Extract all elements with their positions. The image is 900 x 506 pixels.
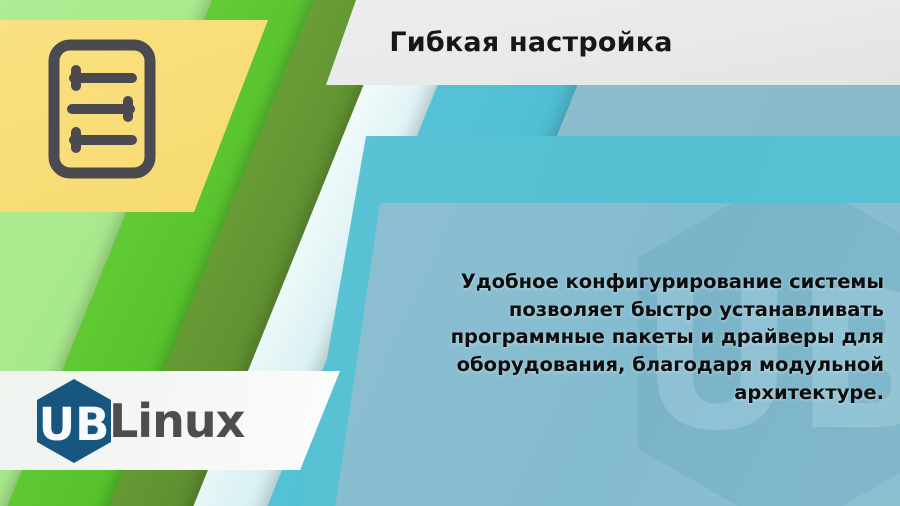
logo-bar: UB Linux: [0, 371, 340, 470]
page-title: Гибкая настройка: [389, 27, 840, 58]
ub-hexagon-icon: UB: [35, 378, 113, 464]
body-paragraph: Удобное конфигурирование системы позволя…: [412, 268, 884, 406]
slide-canvas: UB Гибкая настройка Удобное конфигуриров…: [0, 0, 900, 506]
settings-sliders-icon: [47, 38, 157, 180]
brand-logo: UB Linux: [35, 378, 244, 464]
title-bar: Гибкая настройка: [326, 0, 900, 85]
logo-wordmark: Linux: [109, 394, 244, 448]
logo-mark-text: UB: [39, 398, 110, 451]
